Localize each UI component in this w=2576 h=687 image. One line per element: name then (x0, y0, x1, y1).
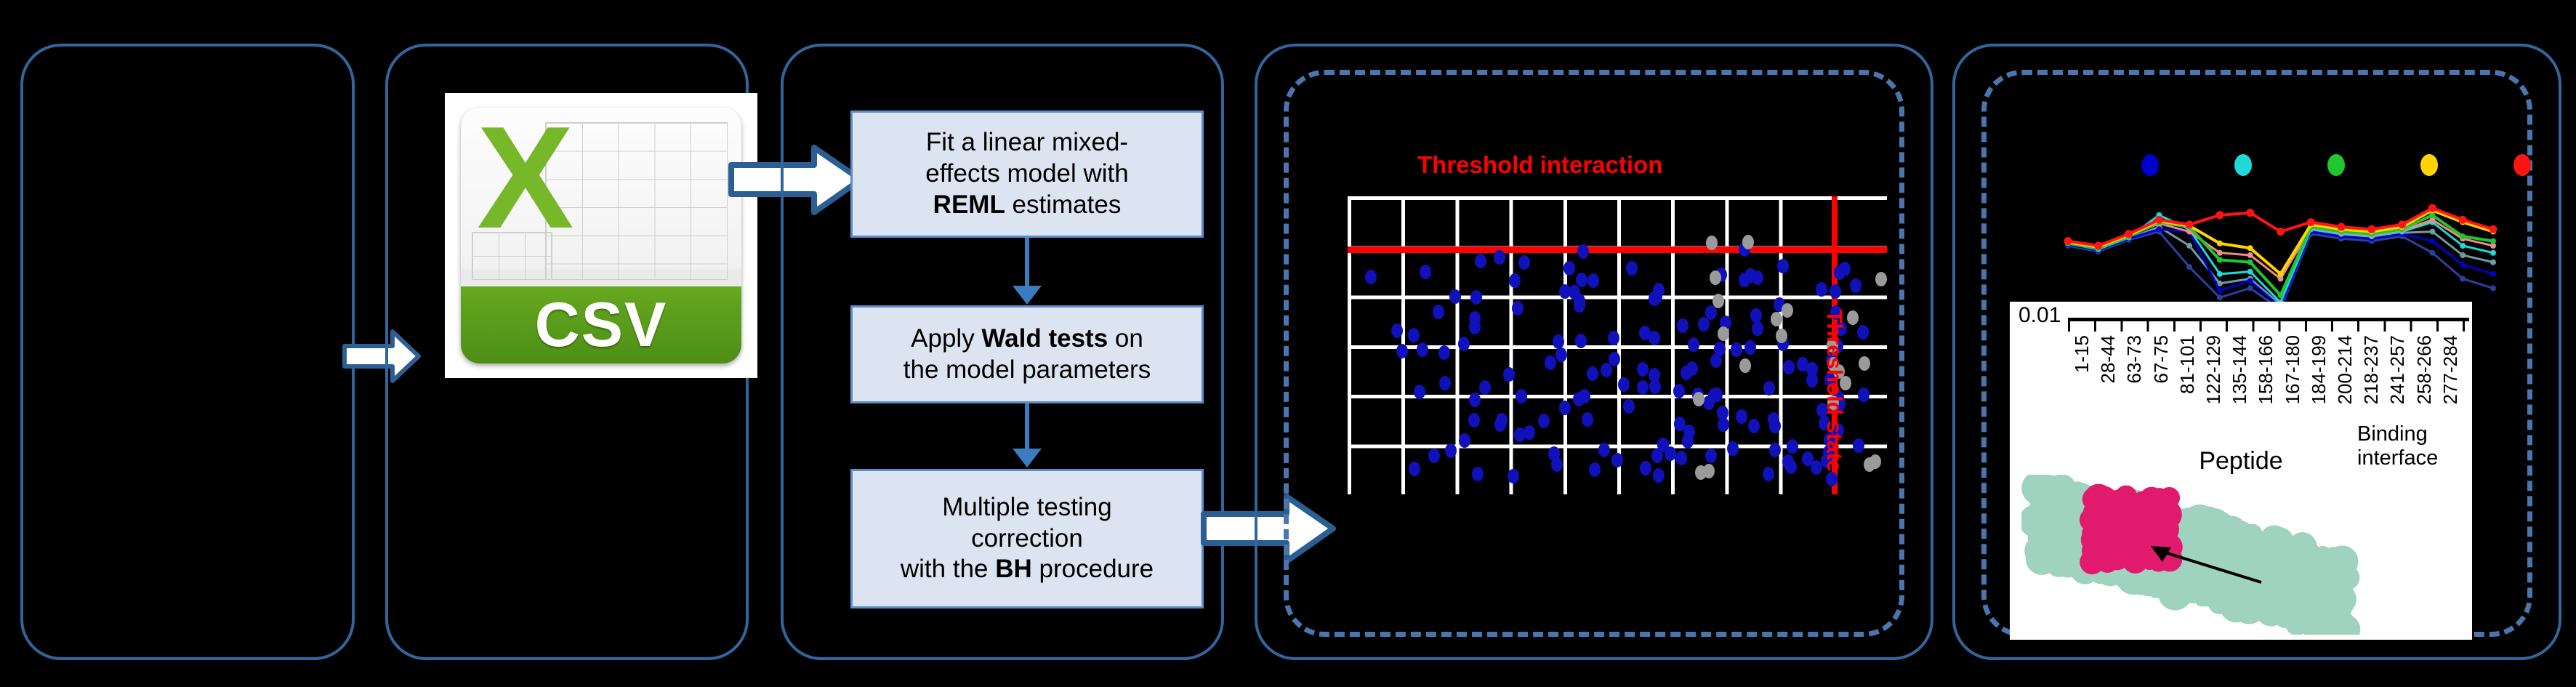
peptide-series-marker (2217, 294, 2223, 300)
scatter-point-significant (1577, 244, 1589, 259)
peptide-tick-label: 158-166 (2255, 335, 2277, 404)
scatter-point-significant (1782, 454, 1794, 469)
peptide-series-marker (2307, 218, 2315, 226)
excel-x-glyph: X (478, 111, 573, 212)
scatter-point-significant (1682, 434, 1694, 449)
scatter-point-significant (1538, 414, 1550, 428)
peptide-series-marker (2064, 237, 2072, 245)
peptide-tick-label: 200-214 (2334, 335, 2356, 404)
scatter-point-significant (1787, 439, 1798, 454)
scatter-point-significant (1472, 467, 1484, 481)
scatter-point-nonsignificant (1771, 312, 1782, 326)
protein-surface-structure (2021, 475, 2363, 635)
peptide-series-marker (2247, 278, 2253, 284)
peptide-tick-label: 167-180 (2282, 335, 2304, 404)
scatter-point-significant (1834, 265, 1846, 280)
scatter-point-significant (1559, 284, 1571, 299)
peptide-legend (2141, 154, 2519, 179)
peptide-series-marker (2367, 225, 2375, 233)
empty-stage-panel (20, 44, 355, 660)
peptide-x-ticks (2068, 321, 2469, 332)
scatter-point-significant (1830, 284, 1841, 299)
peptide-series-marker (2490, 238, 2496, 244)
scatter-point-significant (1674, 417, 1686, 431)
scatter-point-significant (1783, 360, 1795, 374)
peptide-series-marker (2460, 262, 2466, 268)
peptide-series-marker (2338, 223, 2346, 231)
scatter-point-significant (1548, 446, 1560, 461)
peptide-series-marker (2247, 252, 2253, 258)
peptide-series-marker (2428, 204, 2436, 212)
scatter-point-significant (1516, 389, 1527, 403)
csv-sheet-area: X (461, 108, 741, 286)
scatter-point-significant (1601, 363, 1612, 377)
threshold-interaction-label: Threshold interaction (1417, 151, 1662, 179)
peptide-figure: 0.01 1-1528-4463-7367-7581-101122-129135… (2006, 145, 2515, 640)
threshold-interaction-line (1348, 246, 1887, 253)
scatter-plot-area (1348, 196, 1887, 494)
peptide-tick-label: 122-129 (2202, 335, 2225, 404)
scatter-point-significant (1714, 342, 1726, 356)
scatter-point-significant (1637, 380, 1649, 395)
scatter-point-significant (1763, 381, 1775, 395)
flow-connector-1 (1025, 238, 1029, 287)
peptide-series-marker (2490, 271, 2496, 277)
peptide-series-marker (2278, 271, 2284, 277)
scatter-point-significant (1639, 326, 1651, 340)
peptide-series-marker (2459, 216, 2467, 224)
scatter-point-significant (1768, 412, 1779, 427)
scatter-point-significant (1524, 425, 1535, 440)
scatter-point-significant (1559, 401, 1571, 415)
peptide-tick-label: 28-44 (2097, 335, 2120, 384)
protein-surface-blob (2048, 515, 2069, 535)
scatter-point-significant (1727, 441, 1739, 456)
protein-surface-blob (2040, 539, 2062, 561)
scatter-point-significant (1637, 362, 1649, 377)
scatter-point-significant (1651, 449, 1663, 463)
binding-interface-annotation: Binding interface (2357, 422, 2438, 471)
flow-connector-2 (1025, 403, 1029, 450)
scatter-point-significant (1587, 366, 1598, 381)
scatter-point-significant (1640, 461, 1651, 475)
peptide-series-marker (2186, 220, 2194, 228)
scatter-point-significant (1470, 290, 1482, 305)
scatter-point-significant (1777, 259, 1789, 273)
protein-surface-blob (2327, 545, 2359, 577)
scatter-point-significant (1853, 438, 1864, 453)
binding-interface-line-1: Binding (2357, 422, 2438, 446)
peptide-legend-dot-1 (2141, 154, 2159, 176)
scatter-point-significant (1598, 443, 1610, 457)
peptide-tick-label: 63-73 (2123, 335, 2146, 384)
scatter-point-significant (1736, 409, 1747, 424)
peptide-series-marker (2247, 245, 2253, 251)
scatter-point-significant (1575, 334, 1587, 348)
scatter-point-significant (1582, 412, 1593, 427)
peptide-series-marker (2398, 220, 2406, 228)
peptide-line-chart (2013, 189, 2515, 320)
peptide-legend-dot-2 (2234, 154, 2252, 176)
peptide-series-marker (2490, 250, 2496, 256)
scatter-point-significant (1653, 468, 1665, 483)
scatter-point-significant (1391, 324, 1403, 338)
scatter-point-significant (1433, 305, 1444, 319)
scatter-point-significant (1494, 417, 1506, 432)
scatter-point-significant (1468, 413, 1480, 427)
peptide-series-marker (2156, 226, 2162, 232)
peptide-axis-panel: 0.01 1-1528-4463-7367-7581-101122-129135… (2010, 302, 2472, 640)
scatter-point-significant (1858, 387, 1869, 402)
scatter-point-significant (1508, 469, 1519, 483)
peptide-series-marker (2094, 242, 2102, 250)
csv-file-icon[interactable]: X CSV (445, 93, 757, 378)
scatter-point-significant (1649, 379, 1661, 394)
peptide-tick-label: 1-15 (2071, 335, 2093, 373)
scatter-point-significant (1579, 389, 1590, 403)
step-model-text: Fit a linear mixed-effects model withREM… (925, 127, 1129, 220)
scatter-point-significant (1623, 399, 1635, 414)
step-bh-text: Multiple testingcorrectionwith the BH pr… (901, 492, 1154, 585)
peptide-series-marker (2490, 285, 2496, 291)
scatter-point-significant (1576, 273, 1587, 287)
scatter-point-significant (1626, 261, 1638, 276)
peptide-series-marker (2247, 285, 2253, 291)
peptide-tick-label: 241-257 (2386, 335, 2409, 404)
peptide-series-marker (2460, 252, 2466, 258)
scatter-point-nonsignificant (1739, 358, 1751, 373)
scatter-point-significant (1653, 283, 1665, 297)
binding-interface-blob (2159, 487, 2180, 508)
scatter-point-significant (1479, 380, 1491, 395)
peptide-series-marker (2186, 264, 2192, 270)
peptide-y-tick-label: 0.01 (2018, 303, 2061, 328)
peptide-series-marker (2490, 260, 2496, 265)
peptide-series-marker (2217, 288, 2223, 294)
scatter-point-significant (1769, 443, 1781, 457)
scatter-point-significant (1618, 377, 1630, 392)
scatter-point-significant (1748, 419, 1760, 433)
csv-label-text: CSV (535, 289, 668, 361)
peptide-tick-label: 81-101 (2176, 335, 2199, 394)
scatter-point-significant (1677, 318, 1689, 333)
scatter-point-significant (1396, 344, 1408, 358)
peptide-series-marker (2186, 243, 2192, 249)
peptide-series-marker (2429, 238, 2435, 244)
scatter-point-nonsignificant (1693, 392, 1704, 406)
scatter-point-significant (1409, 462, 1420, 476)
scatter-point-significant (1673, 384, 1685, 398)
protein-surface-blob (2183, 537, 2203, 557)
scatter-point-significant (1469, 320, 1481, 334)
scatter-point-significant (1563, 261, 1575, 276)
scatter-point-significant (1503, 367, 1515, 382)
binding-interface-blob (2122, 519, 2148, 545)
scatter-point-significant (1469, 393, 1481, 407)
scatter-point-significant (1711, 387, 1723, 402)
peptide-series-marker (2155, 216, 2163, 224)
scatter-point-significant (1408, 328, 1420, 342)
protein-surface-blob (2262, 585, 2289, 612)
scatter-point-significant (1365, 270, 1377, 284)
step-bh-box[interactable]: Multiple testingcorrectionwith the BH pr… (850, 469, 1204, 608)
scatter-point-significant (1475, 254, 1486, 268)
scatter-point-significant (1417, 342, 1428, 357)
scatter-point-significant (1420, 265, 1431, 279)
binding-interface-blob (2097, 513, 2112, 528)
scatter-point-nonsignificant (1712, 294, 1724, 308)
scatter-point-nonsignificant (1847, 310, 1859, 325)
protein-surface-blob (2309, 582, 2328, 601)
threshold-scatter-chart: Threshold interaction Threshold state (1330, 167, 1904, 502)
protein-surface-blob (2287, 609, 2309, 632)
scatter-point-significant (1608, 331, 1619, 345)
flow-connector-2-head (1013, 449, 1042, 467)
csv-label-band: CSV (461, 286, 741, 363)
scatter-point-significant (1857, 325, 1869, 340)
scatter-point-significant (1459, 433, 1470, 448)
peptide-series-marker (2217, 271, 2223, 277)
peptide-tick-label: 135-144 (2229, 335, 2251, 404)
peptide-tick-label: 277-284 (2439, 335, 2462, 404)
scatter-point-nonsignificant (1718, 326, 1729, 341)
step-wald-text: Apply Wald tests onthe model parameters (903, 324, 1151, 385)
peptide-series-marker (2490, 225, 2497, 233)
scatter-point-significant (1797, 357, 1808, 371)
scatter-point-significant (1752, 321, 1763, 336)
scatter-point-significant (1744, 340, 1756, 355)
scatter-point-significant (1688, 337, 1699, 352)
protein-surface-blob (2199, 521, 2232, 554)
peptide-series-marker (2429, 250, 2435, 256)
peptide-series-marker (2277, 228, 2285, 236)
scatter-point-significant (1816, 282, 1827, 297)
peptide-series-marker (2125, 230, 2133, 238)
peptide-series-marker (2460, 233, 2466, 239)
threshold-state-label: Threshold state (1822, 310, 1846, 472)
scatter-point-significant (1458, 337, 1470, 351)
peptide-series-marker (2460, 276, 2466, 281)
flow-connector-1-head (1013, 286, 1042, 305)
scatter-point-significant (1445, 443, 1457, 458)
scatter-point-nonsignificant (1742, 235, 1754, 249)
peptide-series-line (2068, 215, 2493, 295)
binding-interface-blob (2104, 544, 2130, 571)
scatter-point-significant (1438, 345, 1450, 360)
scatter-point-significant (1449, 289, 1461, 304)
peptide-series-marker (2217, 250, 2223, 256)
scatter-point-significant (1545, 355, 1556, 370)
scatter-point-significant (1675, 451, 1687, 465)
csv-icon-body: X CSV (461, 108, 741, 363)
step-wald-box[interactable]: Apply Wald tests onthe model parameters (850, 305, 1204, 403)
peptide-tick-label: 184-199 (2308, 335, 2330, 404)
scatter-point-significant (1428, 449, 1440, 463)
peptide-series-marker (2460, 243, 2466, 249)
scatter-point-significant (1509, 273, 1521, 288)
peptide-tick-label: 218-237 (2360, 335, 2383, 404)
scatter-point-nonsignificant (1703, 464, 1715, 478)
binding-interface-blob (2102, 498, 2116, 512)
scatter-point-significant (1763, 467, 1774, 481)
binding-interface-line-2: interface (2357, 446, 2438, 470)
peptide-series-marker (2429, 229, 2435, 235)
peptide-series-marker (2217, 241, 2223, 246)
scatter-point-significant (1686, 361, 1698, 376)
peptide-tick-label: 67-75 (2150, 335, 2173, 384)
scatter-point-nonsignificant (1859, 356, 1870, 371)
peptide-tick-label: 258-266 (2413, 335, 2436, 404)
peptide-series-marker (2217, 257, 2223, 263)
scatter-point-significant (1826, 472, 1838, 486)
scatter-point-nonsignificant (1782, 303, 1793, 318)
scatter-point-significant (1414, 385, 1425, 399)
scatter-point-significant (1611, 453, 1623, 467)
scatter-point-significant (1850, 278, 1861, 293)
scatter-point-nonsignificant (1864, 457, 1875, 472)
scatter-point-significant (1494, 250, 1505, 265)
scatter-point-significant (1698, 317, 1710, 332)
scatter-point-significant (1731, 342, 1742, 357)
scatter-point-significant (1717, 406, 1728, 420)
peptide-legend-dot-4 (2420, 154, 2438, 176)
scatter-point-significant (1555, 347, 1567, 362)
scatter-point-significant (1705, 449, 1717, 463)
scatter-point-significant (1518, 255, 1530, 270)
scatter-point-significant (1589, 462, 1601, 477)
peptide-series-marker (2215, 211, 2223, 219)
protein-surface-blob (2248, 529, 2265, 546)
figure-canvas: X CSV Fit a linear mixed-effects model w… (0, 0, 2576, 687)
scatter-point-nonsignificant (1875, 272, 1887, 286)
step-model-box[interactable]: Fit a linear mixed-effects model withREM… (850, 111, 1204, 238)
peptide-series-marker (2246, 209, 2254, 217)
protein-surface-blob (2296, 542, 2322, 568)
scatter-point-significant (1439, 376, 1451, 390)
scatter-point-nonsignificant (1710, 270, 1721, 285)
peptide-series-marker (2247, 269, 2253, 275)
peptide-series-marker (2278, 292, 2284, 298)
peptide-legend-dot-5 (2513, 154, 2531, 176)
scatter-point-significant (1512, 301, 1524, 316)
peptide-legend-dot-3 (2327, 154, 2345, 176)
peptide-series-marker (2247, 260, 2253, 265)
scatter-point-significant (1750, 308, 1762, 323)
scatter-point-significant (1587, 273, 1599, 288)
